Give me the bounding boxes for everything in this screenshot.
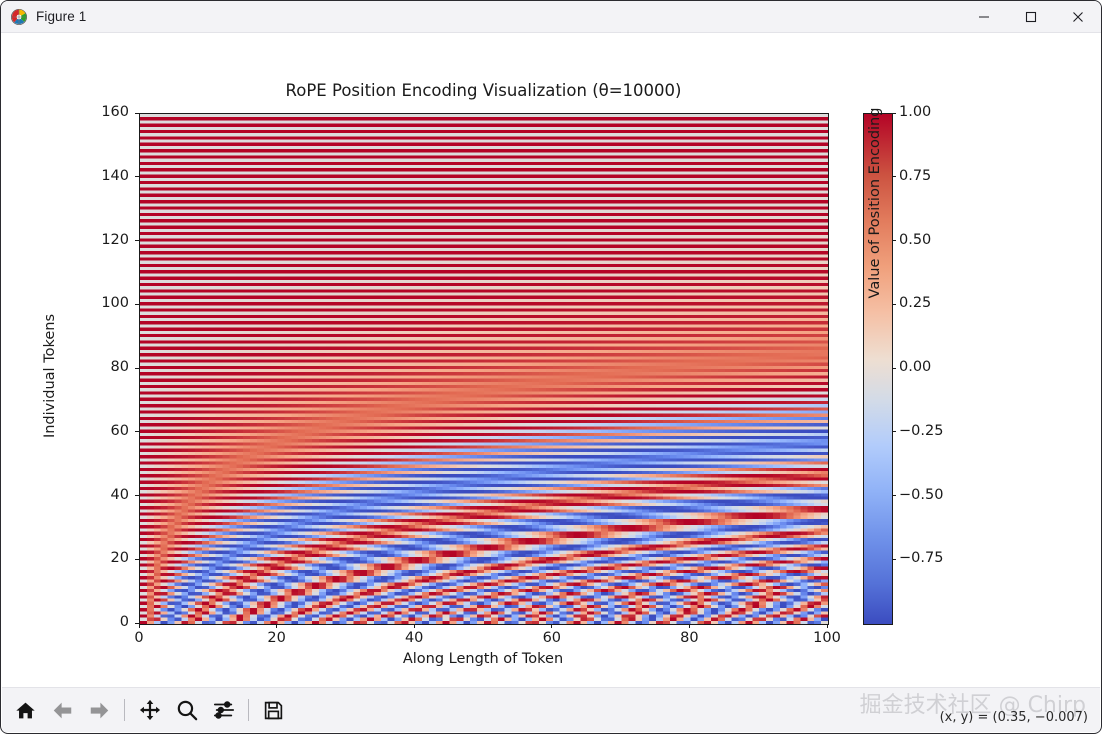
colorbar-tick-label: 0.00 <box>899 359 931 375</box>
x-tick-mark <box>139 624 140 628</box>
configure-subplots-icon[interactable] <box>208 695 239 726</box>
y-tick-mark <box>135 113 139 114</box>
y-tick-label: 40 <box>67 487 129 503</box>
minimize-button[interactable] <box>960 1 1007 33</box>
save-icon[interactable] <box>258 695 289 726</box>
y-tick-mark <box>135 304 139 305</box>
pan-icon[interactable] <box>134 695 165 726</box>
coordinate-readout: (x, y) = (0.35, −0.007) <box>940 710 1088 725</box>
window-controls <box>960 1 1101 33</box>
x-tick-label: 20 <box>247 630 307 646</box>
y-tick-mark <box>135 176 139 177</box>
colorbar-tick-label: −0.75 <box>899 550 943 566</box>
y-tick-mark <box>135 431 139 432</box>
y-tick-mark <box>135 559 139 560</box>
matplotlib-icon <box>10 8 28 26</box>
y-tick-mark <box>135 368 139 369</box>
x-axis-label: Along Length of Token <box>139 651 827 667</box>
colorbar-label: Value of Position Encoding <box>867 38 883 368</box>
x-tick-mark <box>689 624 690 628</box>
figure-window: Figure 1 RoPE Position Encoding Visualiz… <box>0 0 1102 734</box>
figure-canvas[interactable]: RoPE Position Encoding Visualization (θ=… <box>2 33 1100 688</box>
close-button[interactable] <box>1054 1 1101 33</box>
y-tick-label: 100 <box>67 295 129 311</box>
zoom-icon[interactable] <box>171 695 202 726</box>
window-title: Figure 1 <box>36 9 86 24</box>
colorbar-tick-label: 0.50 <box>899 232 931 248</box>
colorbar-tick-label: 0.75 <box>899 168 931 184</box>
toolbar-divider <box>124 699 125 721</box>
y-tick-label: 80 <box>67 359 129 375</box>
x-tick-mark <box>276 624 277 628</box>
home-icon[interactable] <box>10 695 41 726</box>
back-arrow-icon[interactable] <box>47 695 78 726</box>
x-tick-mark <box>414 624 415 628</box>
x-tick-label: 80 <box>659 630 719 646</box>
y-tick-label: 20 <box>67 550 129 566</box>
maximize-button[interactable] <box>1007 1 1054 33</box>
y-tick-label: 160 <box>67 104 129 120</box>
x-tick-label: 0 <box>109 630 169 646</box>
colorbar-tick-label: −0.50 <box>899 487 943 503</box>
colorbar-tick-label: 1.00 <box>899 104 931 120</box>
y-axis-label: Individual Tokens <box>42 286 58 466</box>
y-tick-label: 60 <box>67 423 129 439</box>
colorbar-tick-label: 0.25 <box>899 295 931 311</box>
colorbar-tick-label: −0.25 <box>899 423 943 439</box>
heatmap-image <box>140 114 828 624</box>
y-tick-label: 120 <box>67 232 129 248</box>
heatmap-axes[interactable] <box>139 113 829 625</box>
y-tick-mark <box>135 240 139 241</box>
forward-arrow-icon[interactable] <box>84 695 115 726</box>
navigation-toolbar[interactable]: 掘金技术社区 @ Chirp (x, y) = (0.35, −0.007) <box>2 687 1100 732</box>
x-tick-label: 100 <box>797 630 857 646</box>
y-tick-mark <box>135 495 139 496</box>
toolbar-divider <box>248 699 249 721</box>
x-tick-mark <box>551 624 552 628</box>
x-tick-label: 40 <box>384 630 444 646</box>
x-tick-label: 60 <box>522 630 582 646</box>
y-tick-label: 0 <box>67 614 129 630</box>
y-tick-label: 140 <box>67 168 129 184</box>
y-tick-mark <box>135 623 139 624</box>
window-titlebar[interactable]: Figure 1 <box>1 1 1101 33</box>
x-tick-mark <box>827 624 828 628</box>
chart-title: RoPE Position Encoding Visualization (θ=… <box>140 81 827 100</box>
